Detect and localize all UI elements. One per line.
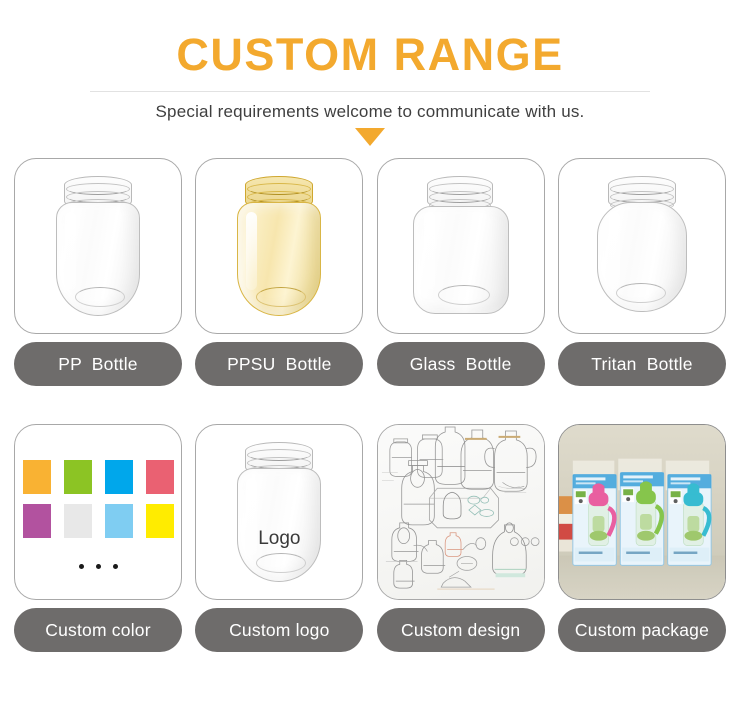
dot: [113, 564, 118, 569]
card-custom-color[interactable]: Custom color: [14, 424, 182, 652]
bottle-illustration-logo: Logo: [196, 425, 362, 599]
bottle-icon: [413, 176, 509, 316]
product-grid: PP Bottle PPS: [0, 158, 740, 652]
bottle-highlight: [65, 212, 76, 290]
card-label-pp-bottle[interactable]: PP Bottle: [14, 342, 182, 386]
card-tritan-bottle[interactable]: Tritan Bottle: [558, 158, 726, 386]
chevron-down-triangle-icon: [355, 128, 385, 146]
card-image-pp-bottle: [14, 158, 182, 334]
design-sketch-image: [378, 425, 544, 599]
card-pp-bottle[interactable]: PP Bottle: [14, 158, 182, 386]
card-custom-package[interactable]: Custom package: [558, 424, 726, 652]
color-swatch-panel: [15, 425, 181, 599]
bottle-illustration-ppsu: [196, 159, 362, 333]
bottle-highlight: [246, 212, 257, 290]
header: CUSTOM RANGE Special requirements welcom…: [0, 0, 740, 150]
color-swatch[interactable]: [64, 504, 92, 538]
card-label-custom-package[interactable]: Custom package: [558, 608, 726, 652]
bottle-illustration-tritan: [559, 159, 725, 333]
bottle-icon: [598, 176, 686, 316]
card-image-custom-color: [14, 424, 182, 600]
bottle-illustration-pp: [15, 159, 181, 333]
card-custom-design[interactable]: Custom design: [377, 424, 545, 652]
card-label-custom-logo[interactable]: Custom logo: [195, 608, 363, 652]
color-swatch[interactable]: [105, 504, 133, 538]
custom-range-banner: CUSTOM RANGE Special requirements welcom…: [0, 0, 740, 709]
card-label-custom-color[interactable]: Custom color: [14, 608, 182, 652]
card-image-glass-bottle: [377, 158, 545, 334]
color-swatch[interactable]: [146, 504, 174, 538]
card-image-custom-logo: Logo: [195, 424, 363, 600]
color-swatch[interactable]: [105, 460, 133, 494]
more-colors-dots-icon: [79, 564, 118, 569]
dot: [96, 564, 101, 569]
color-swatch[interactable]: [146, 460, 174, 494]
logo-placeholder-text: Logo: [235, 528, 323, 550]
dot: [79, 564, 84, 569]
product-row-customization: Custom color Logo: [0, 424, 740, 652]
card-image-custom-package: [558, 424, 726, 600]
color-swatch[interactable]: [64, 460, 92, 494]
color-swatch[interactable]: [23, 460, 51, 494]
page-subtitle: Special requirements welcome to communic…: [0, 102, 740, 122]
divider: [90, 91, 650, 92]
card-label-custom-design[interactable]: Custom design: [377, 608, 545, 652]
product-row-materials: PP Bottle PPS: [0, 158, 740, 386]
card-label-glass-bottle[interactable]: Glass Bottle: [377, 342, 545, 386]
page-title: CUSTOM RANGE: [0, 31, 740, 78]
bottle-icon: [54, 176, 142, 316]
card-image-custom-design: [377, 424, 545, 600]
bottle-highlight: [424, 212, 435, 290]
card-ppsu-bottle[interactable]: PPSU Bottle: [195, 158, 363, 386]
card-glass-bottle[interactable]: Glass Bottle: [377, 158, 545, 386]
card-image-tritan-bottle: [558, 158, 726, 334]
color-swatch-grid: [23, 460, 174, 538]
card-custom-logo[interactable]: Logo Custom logo: [195, 424, 363, 652]
card-label-tritan-bottle[interactable]: Tritan Bottle: [558, 342, 726, 386]
arrow-container: [0, 128, 740, 150]
card-label-ppsu-bottle[interactable]: PPSU Bottle: [195, 342, 363, 386]
bottle-icon: [235, 176, 323, 316]
bottle-highlight: [609, 212, 620, 290]
bottle-illustration-glass: [378, 159, 544, 333]
card-image-ppsu-bottle: [195, 158, 363, 334]
package-photo-image: [559, 425, 725, 599]
bottle-icon: Logo: [235, 442, 323, 582]
color-swatch[interactable]: [23, 504, 51, 538]
